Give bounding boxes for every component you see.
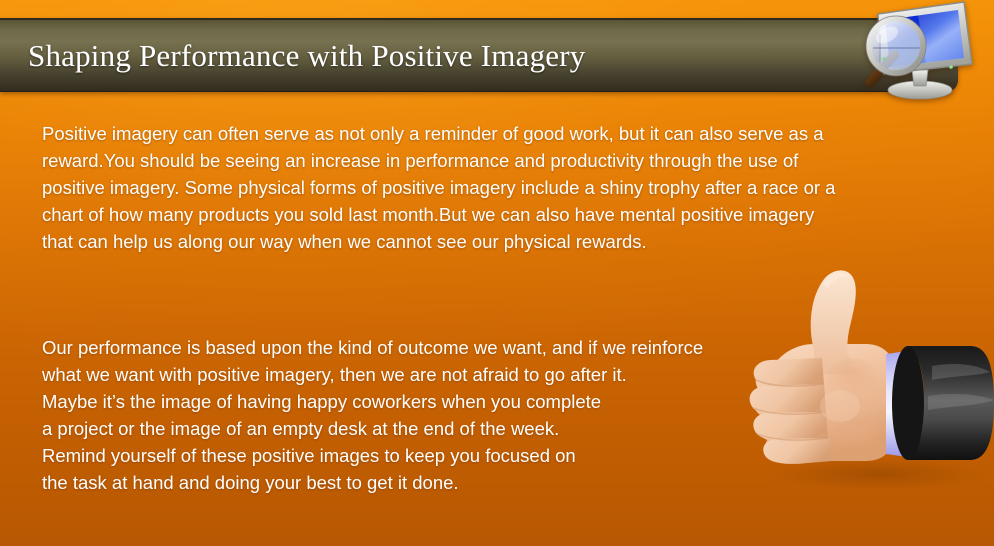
paragraph-two: Our performance is based upon the kind o…	[42, 334, 782, 496]
paragraph-one: Positive imagery can often serve as not …	[42, 120, 922, 255]
paragraph-two-line: Our performance is based upon the kind o…	[42, 334, 782, 361]
paragraph-two-line: the task at hand and doing your best to …	[42, 469, 782, 496]
paragraph-one-line: that can help us along our way when we c…	[42, 228, 922, 255]
monitor-magnifier-icon	[856, 0, 988, 108]
paragraph-one-line: reward.You should be seeing an increase …	[42, 147, 922, 174]
paragraph-one-line: positive imagery. Some physical forms of…	[42, 174, 922, 201]
title-bar: Shaping Performance with Positive Imager…	[0, 18, 958, 92]
paragraph-two-line: what we want with positive imagery, then…	[42, 361, 782, 388]
paragraph-one-line: chart of how many products you sold last…	[42, 201, 922, 228]
paragraph-two-line: Remind yourself of these positive images…	[42, 442, 782, 469]
page-title: Shaping Performance with Positive Imager…	[28, 38, 585, 74]
slide-canvas: Shaping Performance with Positive Imager…	[0, 0, 994, 546]
paragraph-one-line: Positive imagery can often serve as not …	[42, 120, 922, 147]
paragraph-two-line: a project or the image of an empty desk …	[42, 415, 782, 442]
paragraph-two-line: Maybe it’s the image of having happy cow…	[42, 388, 782, 415]
